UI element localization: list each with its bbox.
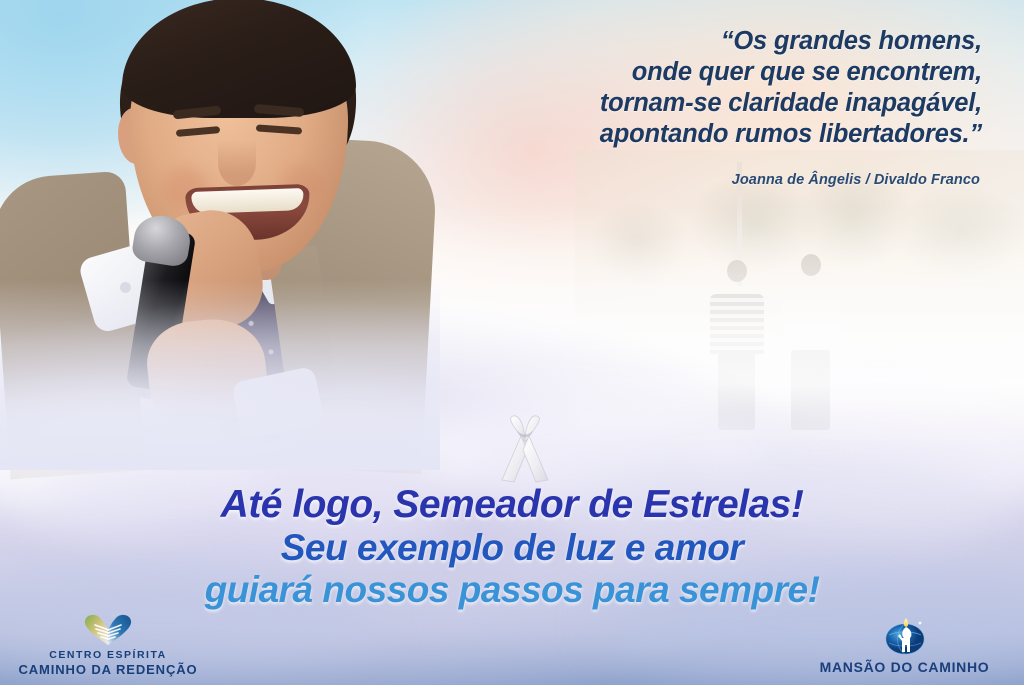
quote-text: “Os grandes homens, onde quer que se enc… [402, 26, 982, 150]
quote-line-2: onde quer que se encontrem, [402, 57, 982, 88]
headline-line-2: Seu exemplo de luz e amor [0, 529, 1024, 566]
headline-line-3: guiará nossos passos para sempre! [0, 571, 1024, 608]
quote-line-1: “Os grandes homens, [402, 26, 982, 57]
quote-line-4: apontando rumos libertadores.” [402, 119, 982, 150]
logo-mansao-do-caminho: MANSÃO DO CAMINHO [797, 616, 1012, 675]
quote-attribution: Joanna de Ângelis / Divaldo Franco [732, 172, 980, 188]
logo-right-label: MANSÃO DO CAMINHO [797, 659, 1012, 675]
logo-left-line-1: CENTRO ESPÍRITA [8, 649, 208, 662]
quote-line-3: tornam-se claridade inapagável, [402, 88, 982, 119]
logo-left-line-2: CAMINHO DA REDENÇÃO [8, 662, 208, 677]
headline-message: Até logo, Semeador de Estrelas! Seu exem… [0, 485, 1024, 608]
headline-line-1: Até logo, Semeador de Estrelas! [0, 485, 1024, 524]
mourning-ribbon-icon [487, 412, 563, 488]
logo-centro-espirita: CENTRO ESPÍRITA CAMINHO DA REDENÇÃO [8, 612, 208, 677]
heart-hands-icon [82, 612, 134, 646]
globe-figure-flame-icon [882, 616, 928, 656]
memorial-poster: “Os grandes homens, onde quer que se enc… [0, 0, 1024, 685]
